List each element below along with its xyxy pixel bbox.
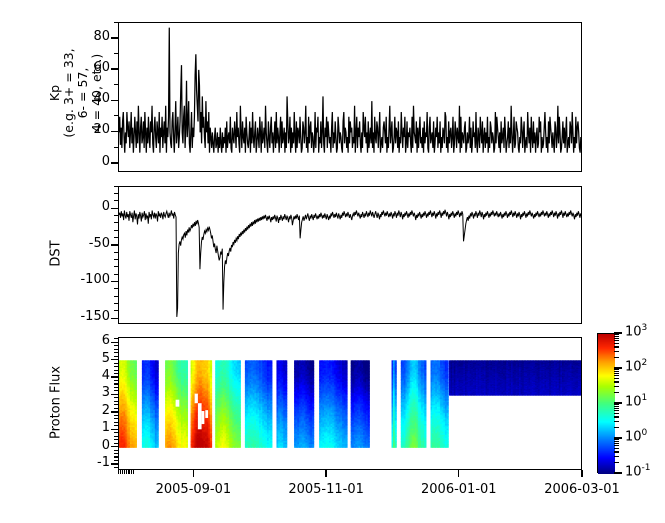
colorbar-minor-tick xyxy=(614,340,619,341)
proton-flux-tick-label: 1 xyxy=(58,420,110,435)
x-axis-tick-mark xyxy=(193,470,194,477)
colorbar-minor-tick xyxy=(614,413,619,414)
colorbar-minor-tick xyxy=(614,451,619,452)
kp-tick-label: 40 xyxy=(58,91,110,106)
colorbar-minor-tick xyxy=(614,334,619,335)
spectrogram-segment xyxy=(401,360,427,448)
x-axis-minor-tick xyxy=(129,470,130,474)
spectrogram-segment xyxy=(319,360,347,448)
spectrogram-segment xyxy=(276,360,287,448)
proton-flux-tick-label: 2 xyxy=(58,403,110,418)
spectrogram-data-gap xyxy=(198,403,202,429)
spectrogram-data-gap xyxy=(176,400,180,407)
x-axis-minor-tick xyxy=(124,470,125,474)
colorbar-tick-label: 10-1 xyxy=(625,463,651,479)
x-axis-minor-tick xyxy=(120,470,121,474)
colorbar-minor-tick xyxy=(614,410,619,411)
spectrogram-segment xyxy=(294,360,314,448)
colorbar-minor-tick xyxy=(614,404,619,405)
proton-flux-colorbar xyxy=(597,333,614,473)
spectrogram-segment xyxy=(431,360,449,448)
colorbar-tick-label: 103 xyxy=(625,323,647,339)
colorbar-tick-label: 101 xyxy=(625,393,647,409)
proton-flux-tick-label: 6 xyxy=(58,333,110,348)
colorbar-tick-mantissa: 10 xyxy=(625,394,642,409)
colorbar-minor-tick xyxy=(614,371,619,372)
colorbar-minor-tick xyxy=(614,346,619,347)
colorbar-minor-tick xyxy=(614,448,619,449)
colorbar-tick-exponent: 0 xyxy=(642,428,648,438)
colorbar-minor-tick xyxy=(614,338,619,339)
colorbar-minor-tick xyxy=(614,386,619,387)
colorbar-tick-mantissa: 10 xyxy=(625,464,642,479)
colorbar-minor-tick xyxy=(614,421,619,422)
colorbar-tick-mantissa: 10 xyxy=(625,324,642,339)
colorbar-minor-tick xyxy=(614,369,619,370)
colorbar-minor-tick xyxy=(614,343,619,344)
x-axis-tick-label: 2005-11-01 xyxy=(271,482,381,497)
proton-flux-spectrogram xyxy=(119,338,582,470)
colorbar-tick-mark xyxy=(614,472,622,474)
colorbar-tick-exponent: -1 xyxy=(642,463,651,473)
x-axis-minor-tick xyxy=(122,470,123,474)
colorbar-minor-tick xyxy=(614,462,619,463)
x-axis-minor-tick xyxy=(133,470,134,474)
colorbar-minor-tick xyxy=(614,427,619,428)
colorbar-minor-tick xyxy=(614,336,619,337)
spectrogram-segment xyxy=(449,360,582,395)
kp-tick-label: 60 xyxy=(58,60,110,75)
colorbar-minor-tick xyxy=(614,445,619,446)
colorbar-minor-tick xyxy=(614,378,619,379)
proton-flux-panel xyxy=(118,337,582,470)
colorbar-tick-mantissa: 10 xyxy=(625,359,642,374)
kp-series-plot xyxy=(119,23,582,172)
kp-panel xyxy=(118,22,582,172)
spectrogram-data-gap xyxy=(195,394,198,404)
kp-tick-label: 80 xyxy=(58,29,110,44)
x-axis-minor-tick xyxy=(128,470,129,474)
colorbar-minor-tick xyxy=(614,408,619,409)
colorbar-minor-tick xyxy=(614,375,619,376)
colorbar-minor-tick xyxy=(614,439,619,440)
x-axis-minor-tick xyxy=(126,470,127,474)
spectrogram-data-gap xyxy=(205,410,208,418)
colorbar-minor-tick xyxy=(614,357,619,358)
dst-tick-label: -100 xyxy=(58,272,110,287)
x-axis-tick-mark xyxy=(581,470,582,477)
proton-flux-tick-label: -1 xyxy=(58,455,110,470)
x-axis-tick-mark xyxy=(458,470,459,477)
x-axis-tick-mark xyxy=(325,470,326,477)
colorbar-tick-mantissa: 10 xyxy=(625,429,642,444)
colorbar-minor-tick xyxy=(614,456,619,457)
dst-panel xyxy=(118,186,582,324)
spectrogram-segment xyxy=(392,360,397,448)
colorbar-minor-tick xyxy=(614,392,619,393)
colorbar-tick-label: 100 xyxy=(625,428,647,444)
spectrogram-segment xyxy=(215,360,241,448)
colorbar-minor-tick xyxy=(614,416,619,417)
dst-tick-label: -50 xyxy=(58,236,110,251)
dst-tick-label: 0 xyxy=(58,199,110,214)
spectrogram-segment xyxy=(142,360,159,448)
colorbar-minor-tick xyxy=(614,406,619,407)
colorbar-tick-exponent: 2 xyxy=(642,358,648,368)
x-axis-minor-tick xyxy=(118,470,119,474)
colorbar-tick-exponent: 1 xyxy=(642,393,648,403)
proton-flux-tick-label: 3 xyxy=(58,385,110,400)
dst-tick-label: -150 xyxy=(58,309,110,324)
spectrogram-segment xyxy=(119,360,137,448)
colorbar-minor-tick xyxy=(614,381,619,382)
colorbar-minor-tick xyxy=(614,441,619,442)
spectrogram-data-gap xyxy=(202,411,205,424)
dst-series-plot xyxy=(119,187,582,324)
x-axis-tick-label: 2005-09-01 xyxy=(138,482,248,497)
spectrogram-segment xyxy=(351,360,370,448)
proton-flux-tick-label: 5 xyxy=(58,351,110,366)
colorbar-minor-tick xyxy=(614,443,619,444)
kp-tick-label: 20 xyxy=(58,122,110,137)
colorbar-tick-exponent: 3 xyxy=(642,323,648,333)
x-axis-tick-label: 2006-03-01 xyxy=(527,482,637,497)
colorbar-minor-tick xyxy=(614,351,619,352)
x-axis-tick-label: 2006-01-01 xyxy=(404,482,514,497)
spectrogram-segment xyxy=(245,360,273,448)
colorbar-minor-tick xyxy=(614,373,619,374)
space-weather-figure: Kp (e.g. 3+ = 33, 6- = 57, 4 = 40, etc.)… xyxy=(0,0,665,523)
colorbar-gradient xyxy=(598,334,615,474)
x-axis-minor-tick xyxy=(131,470,132,474)
proton-flux-tick-label: 0 xyxy=(58,438,110,453)
proton-flux-tick-label: 4 xyxy=(58,368,110,383)
kp-tick-label: 0 xyxy=(58,154,110,169)
colorbar-tick-label: 102 xyxy=(625,358,647,374)
